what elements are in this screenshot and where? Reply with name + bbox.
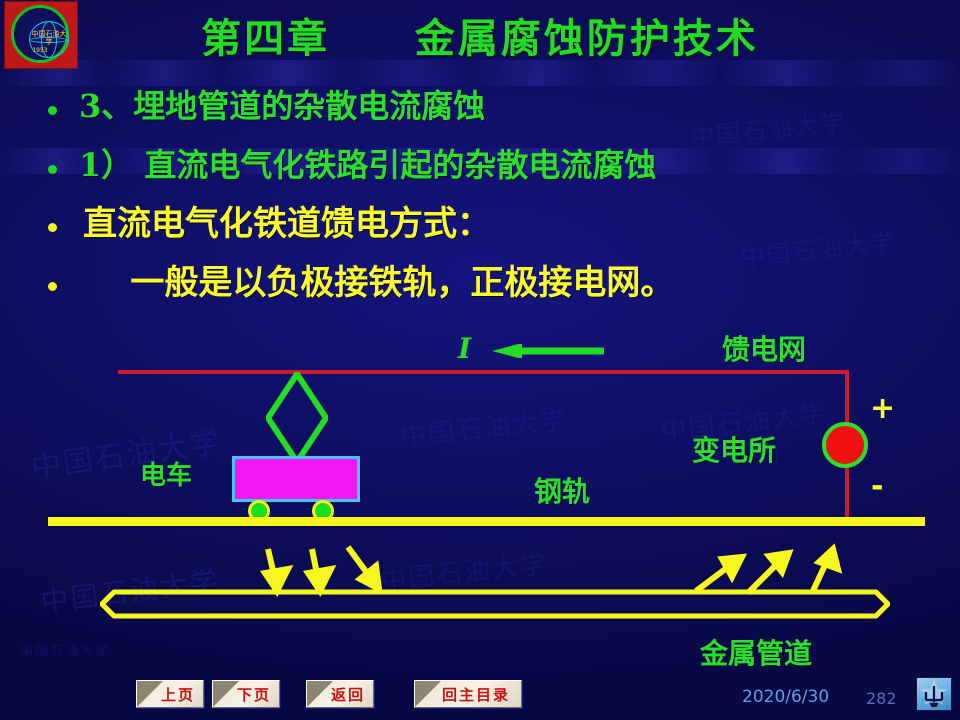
current-symbol-label: I	[458, 332, 471, 365]
label-steel-rail: 钢轨	[534, 470, 590, 510]
label-substation: 变电所	[692, 429, 776, 469]
bullet-dot	[48, 223, 57, 232]
tram-body	[232, 456, 360, 502]
watermark-text: 中国石油大学	[20, 640, 110, 659]
polarity-negative-label: -	[871, 472, 883, 502]
label-metal-pipeline: 金属管道	[700, 632, 812, 672]
metal-pipeline	[100, 588, 890, 620]
prev-page-label: 上页	[145, 684, 195, 705]
bullet-dot	[48, 282, 57, 291]
bullet-item-3: 直流电气化铁道馈电方式：	[48, 203, 491, 245]
return-label: 返回	[315, 684, 365, 705]
bullet-item-4: 一般是以负极接铁轨，正极接电网。	[48, 262, 674, 304]
page-title: 第四章 金属腐蚀防护技术	[0, 6, 960, 64]
watermark-text: 中国石油大学	[739, 222, 898, 273]
label-tram: 电车	[140, 455, 192, 492]
main-menu-button[interactable]: 回主目录	[414, 680, 522, 708]
bullet-dot	[48, 106, 57, 115]
label-feeder-network: 馈电网	[722, 328, 806, 368]
bullet-text: 1） 直流电气化铁路引起的杂散电流腐蚀	[79, 145, 656, 185]
footer-date: 2020/6/30	[742, 687, 829, 707]
footer-page-number: 282	[866, 689, 897, 708]
next-page-button[interactable]: 下页	[212, 680, 280, 708]
watermark-text: 中国石油大学	[399, 399, 570, 453]
watermark-text: 中国石油大学	[28, 417, 224, 487]
pantograph-icon	[266, 372, 328, 464]
substation-symbol	[822, 422, 868, 468]
next-page-label: 下页	[221, 684, 271, 705]
steel-rail-line	[48, 517, 925, 526]
bullet-dot	[48, 165, 57, 174]
presentation-logo-icon	[916, 677, 952, 711]
bullet-text: 3、埋地管道的杂散电流腐蚀	[79, 86, 485, 126]
bullet-text: 一般是以负极接铁轨，正极接电网。	[83, 262, 674, 304]
bullet-item-1: 3、埋地管道的杂散电流腐蚀	[48, 86, 485, 126]
feeder-wire-horizontal	[118, 370, 848, 374]
main-menu-label: 回主目录	[426, 684, 510, 705]
polarity-positive-label: +	[870, 394, 895, 424]
return-button[interactable]: 返回	[306, 680, 374, 708]
bullet-text: 直流电气化铁道馈电方式：	[83, 203, 491, 245]
current-direction-arrow-icon	[492, 344, 604, 358]
prev-page-button[interactable]: 上页	[136, 680, 204, 708]
watermark-text: 中国石油大学	[689, 102, 848, 153]
slide-canvas: 中国石油大学 中国石油大学 中国石油大学 中国石油大学 中国石油大学 中国石油大…	[0, 0, 960, 720]
bullet-item-2: 1） 直流电气化铁路引起的杂散电流腐蚀	[48, 145, 656, 185]
